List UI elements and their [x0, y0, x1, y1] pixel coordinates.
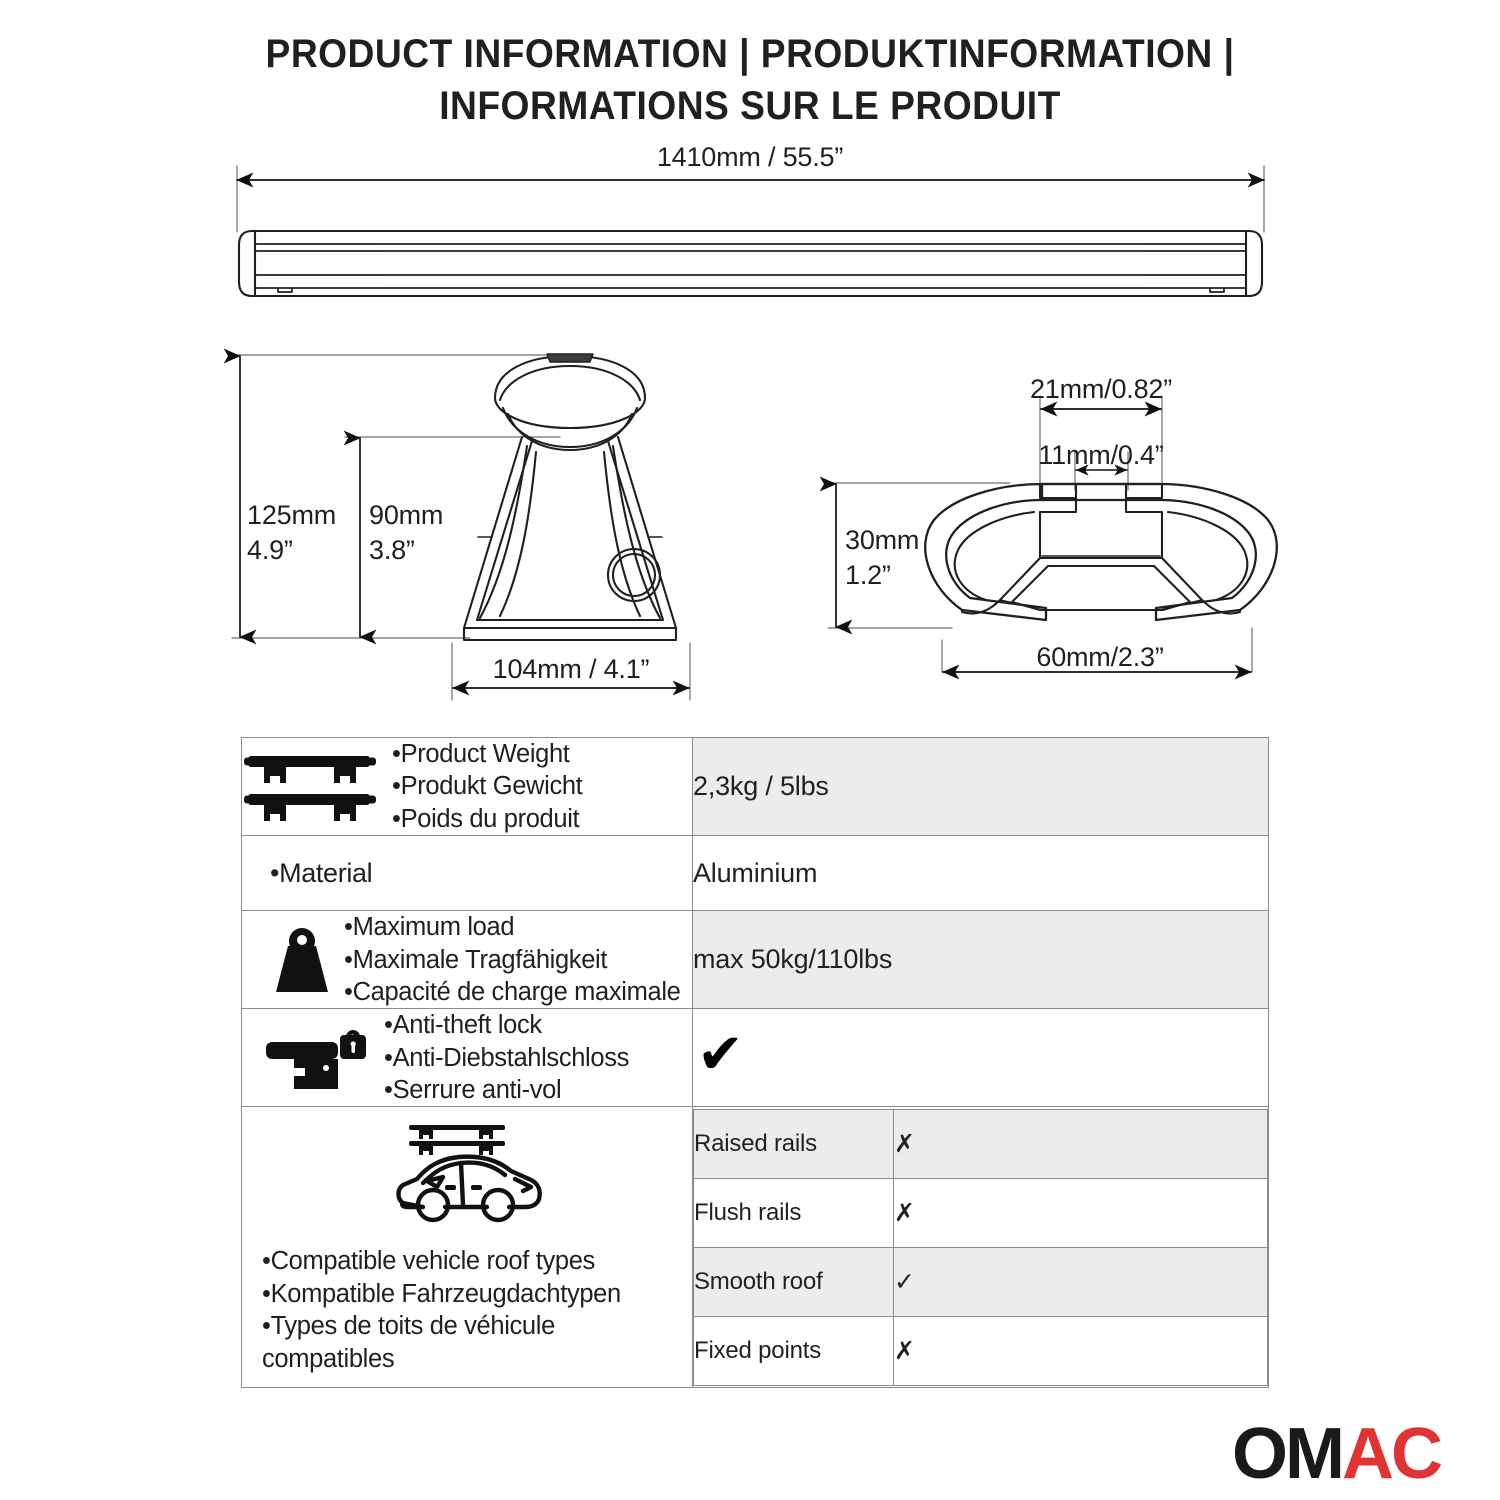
specification-table: •Product Weight •Produkt Gewicht •Poids … [241, 737, 1269, 1388]
dim-label-profile-slot-inner: 11mm/0.4” [978, 438, 1224, 473]
spec-label-text: •Product Weight •Produkt Gewicht •Poids … [392, 738, 582, 835]
spec-label-cell: •Anti-theft lock •Anti-Diebstahlschloss … [242, 1009, 693, 1107]
roof-type-name: Raised rails [694, 1109, 894, 1178]
roof-type-name: Smooth roof [694, 1247, 894, 1316]
spec-label-text: •Anti-theft lock •Anti-Diebstahlschloss … [384, 1009, 629, 1106]
table-row: •Anti-theft lock •Anti-Diebstahlschloss … [242, 1009, 1269, 1107]
spec-label-text: •Material [242, 856, 372, 890]
spec-label-cell: •Maximum load •Maximale Tragfähigkeit •C… [242, 911, 693, 1009]
roof-type-value: ✓ [894, 1247, 1268, 1316]
table-row: •Compatible vehicle roof types •Kompatib… [242, 1107, 1269, 1388]
page-title: PRODUCT INFORMATION | PRODUKTINFORMATION… [0, 28, 1500, 132]
spec-value-cell: ✔ [693, 1009, 1269, 1107]
dim-label-profile-slot-outer: 21mm/0.82” [976, 372, 1226, 407]
page-title-line-1: PRODUCT INFORMATION | PRODUKTINFORMATION… [53, 28, 1448, 80]
table-row: •Maximum load •Maximale Tragfähigkeit •C… [242, 911, 1269, 1009]
roof-type-row: Fixed points ✗ [694, 1316, 1268, 1385]
logo-text-dark: OM [1232, 1414, 1342, 1494]
roof-type-value: ✗ [894, 1178, 1268, 1247]
omac-logo: OMAC [1232, 1418, 1440, 1490]
roof-type-name: Flush rails [694, 1178, 894, 1247]
page-title-line-2: INFORMATIONS SUR LE PRODUIT [53, 80, 1448, 132]
dim-label-bar-length: 1410mm / 55.5” [600, 140, 900, 175]
checkmark-icon: ✔ [693, 1025, 744, 1091]
roof-type-name: Fixed points [694, 1316, 894, 1385]
dim-label-profile-width: 60mm/2.3” [975, 640, 1225, 675]
spec-value-cell: max 50kg/110lbs [693, 911, 1269, 1009]
roof-type-row: Smooth roof ✓ [694, 1247, 1268, 1316]
dim-label-foot-width: 104mm / 4.1” [441, 652, 701, 687]
dim-label-foot-height-total: 125mm 4.9” [247, 498, 336, 567]
spec-value-cell: Aluminium [693, 836, 1269, 911]
roof-types-table: Raised rails ✗ Flush rails ✗ Smooth roof… [693, 1109, 1268, 1386]
logo-text-red: AC [1342, 1414, 1440, 1494]
roof-type-row: Flush rails ✗ [694, 1178, 1268, 1247]
spec-value-cell: 2,3kg / 5lbs [693, 738, 1269, 836]
roof-rack-bars-icon [242, 750, 382, 824]
car-with-roof-rack-icon [383, 1117, 551, 1233]
roof-types-label-cell: •Compatible vehicle roof types •Kompatib… [242, 1107, 693, 1388]
dim-label-profile-height: 30mm 1.2” [845, 523, 919, 592]
spec-label-cell: •Product Weight •Produkt Gewicht •Poids … [242, 738, 693, 836]
product-information-page: PRODUCT INFORMATION | PRODUKTINFORMATION… [0, 0, 1500, 1500]
weight-icon [242, 924, 340, 996]
table-row: •Material Aluminium [242, 836, 1269, 911]
lock-icon [242, 1020, 370, 1096]
dim-label-foot-height-inner: 90mm 3.8” [369, 498, 443, 567]
roof-type-row: Raised rails ✗ [694, 1109, 1268, 1178]
roof-type-value: ✗ [894, 1316, 1268, 1385]
spec-label-text: •Maximum load •Maximale Tragfähigkeit •C… [344, 911, 680, 1008]
roof-types-value-cell: Raised rails ✗ Flush rails ✗ Smooth roof… [693, 1107, 1269, 1388]
spec-label-cell: •Material [242, 836, 693, 911]
table-row: •Product Weight •Produkt Gewicht •Poids … [242, 738, 1269, 836]
roof-types-label-text: •Compatible vehicle roof types •Kompatib… [248, 1233, 621, 1375]
roof-type-value: ✗ [894, 1109, 1268, 1178]
